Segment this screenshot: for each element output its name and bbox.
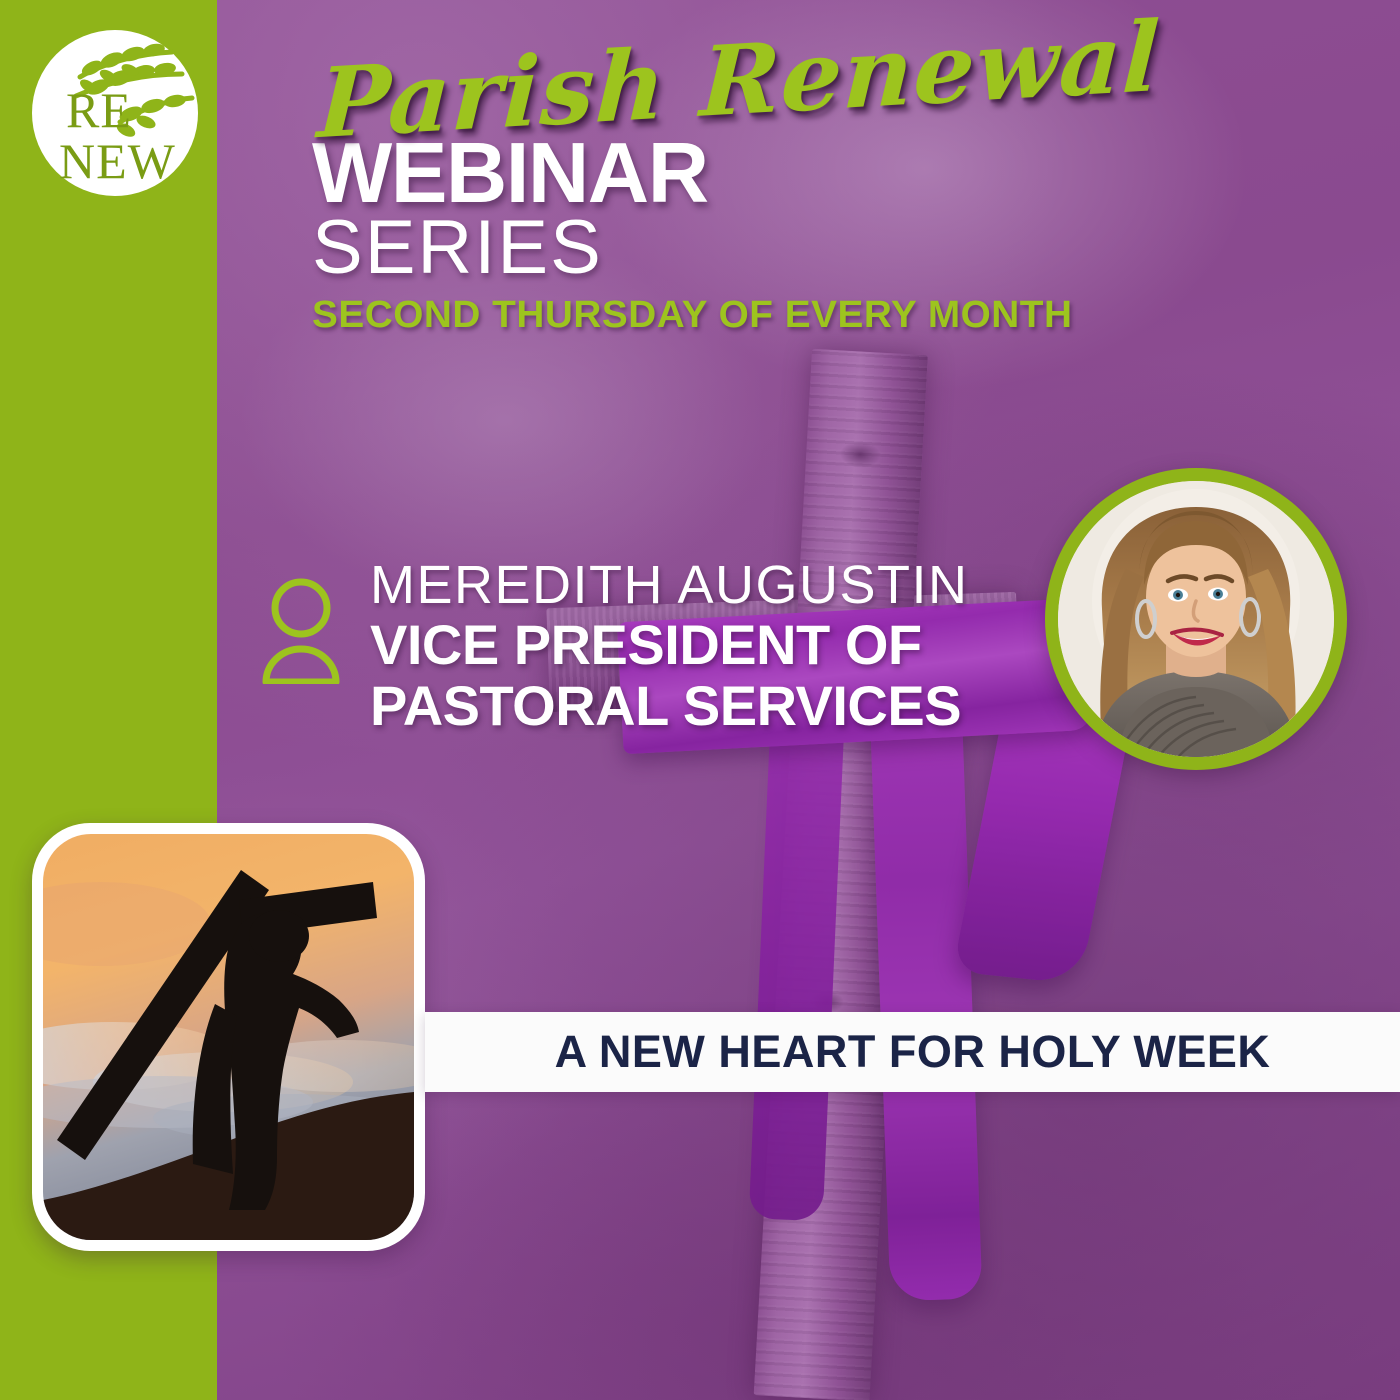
speaker-avatar[interactable] — [1045, 468, 1347, 770]
poster-header: Parish Renewal WEBINAR SERIES SECOND THU… — [312, 58, 1132, 334]
speaker-role-line2: PASTORAL SERVICES — [370, 676, 969, 735]
renew-logo-line1: RE — [66, 82, 132, 138]
speaker-block: MEREDITH AUGUSTIN VICE PRESIDENT OF PAST… — [260, 552, 969, 736]
topic-thumbnail[interactable] — [32, 823, 425, 1251]
renew-logo-mark: RE NEW — [32, 30, 198, 196]
speaker-name: MEREDITH AUGUSTIN — [370, 558, 969, 613]
renew-logo-line2: NEW — [59, 133, 176, 189]
renew-logo[interactable]: RE NEW — [32, 30, 198, 196]
speaker-text: MEREDITH AUGUSTIN VICE PRESIDENT OF PAST… — [370, 552, 969, 736]
speaker-role-line1: VICE PRESIDENT OF — [370, 615, 969, 674]
topic-title-banner: A NEW HEART FOR HOLY WEEK — [425, 1012, 1400, 1092]
wood-knot-icon — [840, 441, 881, 469]
topic-title-text: A NEW HEART FOR HOLY WEEK — [555, 1026, 1271, 1078]
purple-cloth-drape-long — [870, 699, 983, 1302]
webinar-promo-poster: RE NEW Parish Renewal WEBINAR SERIES SEC… — [0, 0, 1400, 1400]
topic-thumbnail-image — [43, 834, 414, 1240]
person-icon — [260, 576, 342, 689]
speaker-avatar-image — [1058, 481, 1334, 757]
series-heading: SERIES — [312, 210, 1132, 286]
schedule-text: SECOND THURSDAY OF EVERY MONTH — [312, 296, 1148, 334]
